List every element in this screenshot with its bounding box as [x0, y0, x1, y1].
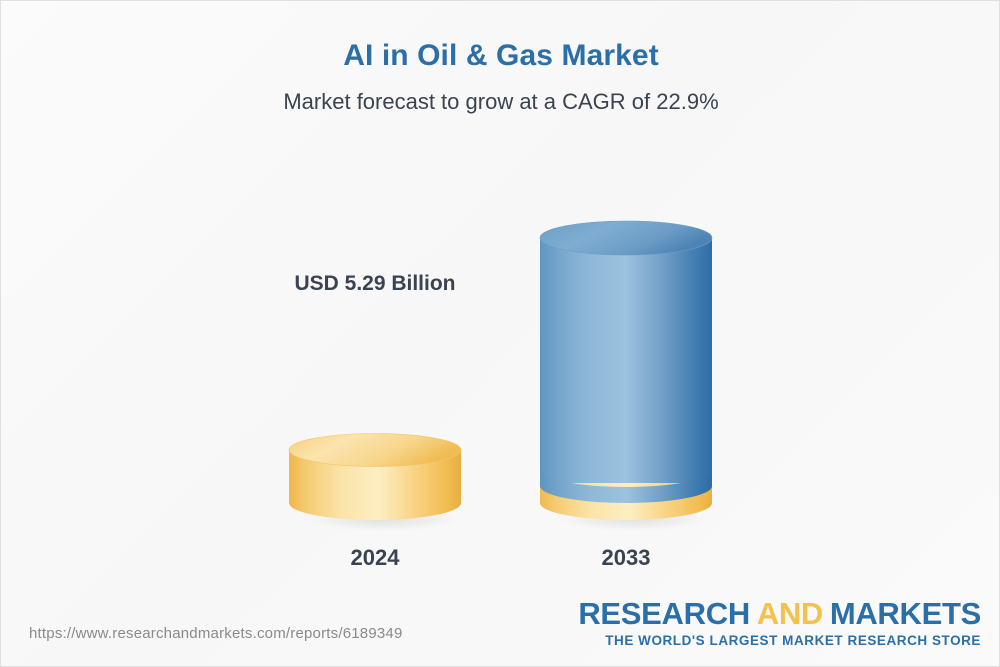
source-url[interactable]: https://www.researchandmarkets.com/repor…: [29, 625, 403, 642]
page-title: AI in Oil & Gas Market: [1, 39, 1000, 73]
chart-subtitle: Market forecast to grow at a CAGR of 22.…: [1, 89, 1000, 115]
cylinder-2033-svg: [538, 208, 714, 538]
bar-category-label-2033: 2033: [496, 545, 756, 571]
cylinder-2024-top-cap: [289, 434, 461, 467]
infographic-canvas: AI in Oil & Gas Market Market forecast t…: [0, 0, 1000, 667]
brand-wordmark: RESEARCHANDMARKETS: [578, 598, 981, 629]
brand-logo[interactable]: RESEARCHANDMARKETS THE WORLD'S LARGEST M…: [578, 598, 981, 648]
bar-value-label-2024: USD 5.29 Billion: [245, 272, 505, 296]
bar-cylinder-2024: [287, 433, 463, 543]
brand-tagline: THE WORLD'S LARGEST MARKET RESEARCH STOR…: [578, 633, 981, 648]
chart-plot-area: USD 5.29 Billion: [1, 131, 1000, 571]
brand-word-markets: MARKETS: [830, 596, 981, 631]
cylinder-2033-top-cap: [540, 221, 712, 255]
brand-word-research: RESEARCH: [578, 596, 750, 631]
brand-word-and: AND: [757, 596, 823, 631]
bar-category-label-2024: 2024: [245, 545, 505, 571]
cylinder-2024-svg: [287, 433, 463, 538]
bar-cylinder-2033: [538, 208, 714, 543]
cylinder-2033-segment-blue: [538, 228, 714, 488]
